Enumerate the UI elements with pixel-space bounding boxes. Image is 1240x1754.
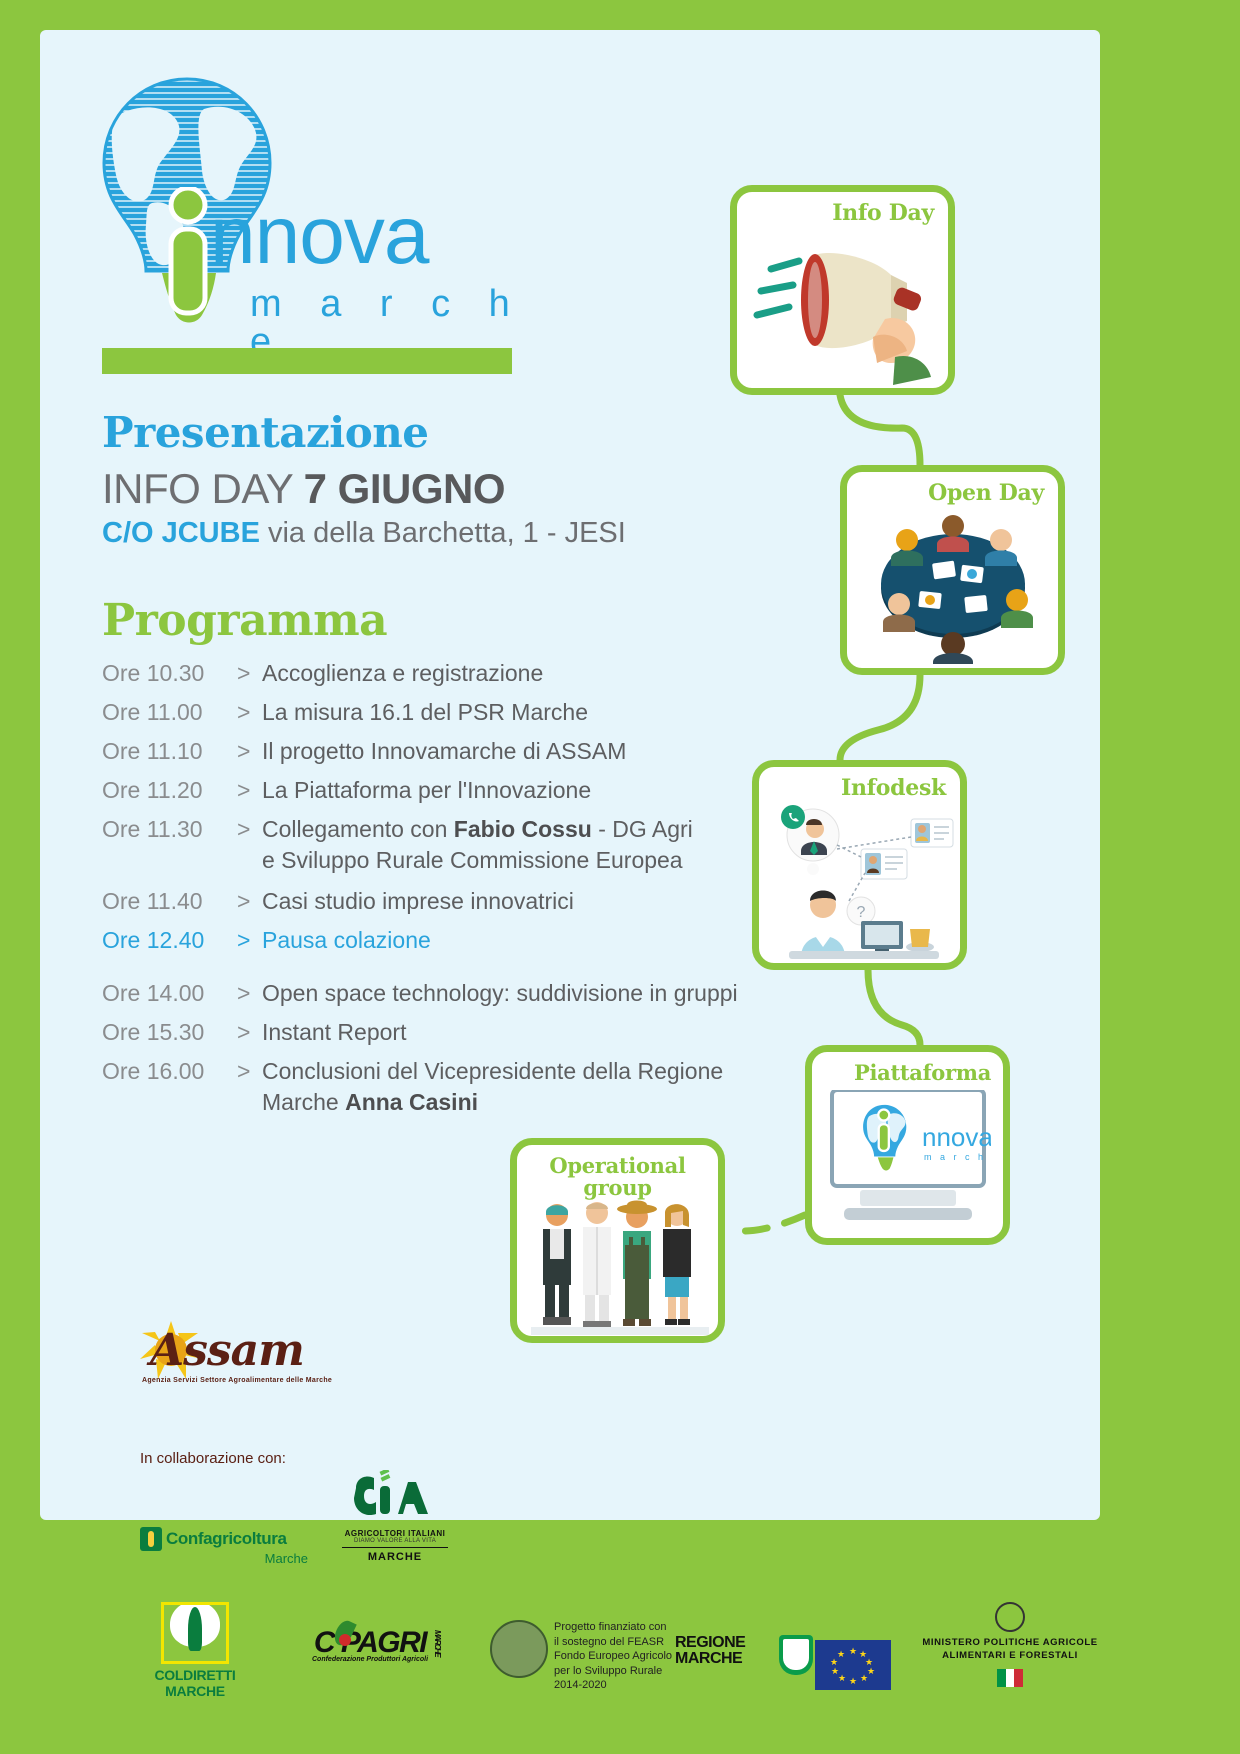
logo-regione-marche: REGIONE MARCHE: [675, 1635, 805, 1667]
card-infodesk[interactable]: Infodesk: [752, 760, 967, 970]
copagri-dot-icon: [339, 1634, 351, 1646]
program-row: Ore 11.00 > La misura 16.1 del PSR March…: [102, 701, 742, 724]
program-text-continuation: Marche Anna Casini: [262, 1089, 742, 1116]
regione-woodpecker-icon: [789, 1643, 805, 1665]
program-text: Il progetto Innovamarche di ASSAM: [262, 740, 626, 763]
program-text: Collegamento con Fabio Cossu - DG Agri: [262, 818, 693, 841]
eu-flag: ★ ★ ★ ★ ★ ★ ★ ★ ★ ★: [815, 1640, 891, 1690]
program-time: Ore 11.40: [102, 890, 237, 913]
card-title-infodesk: Infodesk: [759, 775, 960, 801]
program-text: Instant Report: [262, 1021, 406, 1044]
svg-text:nnova: nnova: [922, 1122, 991, 1152]
program-arrow: >: [237, 779, 262, 802]
program-time: Ore 11.30: [102, 818, 237, 841]
monitor-platform-icon: nnova m a r c h e: [826, 1090, 991, 1230]
infodesk-support-icon: ?: [765, 801, 955, 961]
card-piattaforma[interactable]: Piattaforma nnova m a r c h e: [805, 1045, 1010, 1245]
page-title: INFO DAY 7 GIUGNO: [102, 465, 505, 513]
coldiretti-tree-icon: [188, 1607, 202, 1651]
program-text: La Piattaforma per l'Innovazione: [262, 779, 591, 802]
program-time: Ore 11.10: [102, 740, 237, 763]
psr-seal-icon: [490, 1620, 548, 1678]
copagri-region: MARCHE: [433, 1630, 442, 1656]
card-title-operational-group-line1: Operational: [517, 1155, 718, 1177]
feasr-text: Progetto finanziato con il sostegno del …: [554, 1620, 690, 1693]
program-arrow: >: [237, 818, 262, 841]
program-row: Ore 11.20 > La Piattaforma per l'Innovaz…: [102, 779, 742, 802]
cia-region: MARCHE: [330, 1551, 460, 1563]
confagricoltura-region: Marche: [140, 1551, 308, 1566]
ministero-line1: MINISTERO POLITICHE AGRICOLE: [920, 1636, 1100, 1649]
program-row: Ore 11.30 > Collegamento con Fabio Cossu…: [102, 818, 742, 841]
coldiretti-shield-icon: [161, 1602, 229, 1664]
program-list: Ore 10.30 > Accoglienza e registrazione …: [102, 662, 742, 1132]
feasr-funding-block: Progetto finanziato con il sostegno del …: [490, 1620, 690, 1693]
program-time: Ore 16.00: [102, 1060, 237, 1083]
card-operational-group[interactable]: Operational group: [510, 1138, 725, 1343]
confagricoltura-mark-icon: [140, 1527, 162, 1551]
programma-heading: Programma: [102, 595, 387, 646]
italy-flag-icon: [997, 1669, 1023, 1687]
eu-flag-icon: ★ ★ ★ ★ ★ ★ ★ ★ ★ ★: [815, 1640, 891, 1690]
card-open-day[interactable]: Open Day: [840, 465, 1065, 675]
cia-line2: DIAMO VALORE ALLA VITA: [330, 1538, 460, 1544]
program-text: Pausa colazione: [262, 929, 431, 952]
program-time: Ore 15.30: [102, 1021, 237, 1044]
program-text: La misura 16.1 del PSR Marche: [262, 701, 588, 724]
logo-confagricoltura: Confagricoltura Marche: [140, 1527, 310, 1566]
card-title-operational-group-line2: group: [517, 1177, 718, 1199]
program-row: Ore 11.10 > Il progetto Innovamarche di …: [102, 740, 742, 763]
regione-shield-icon: [779, 1635, 813, 1675]
cia-mark-icon: [350, 1470, 440, 1522]
green-divider-bar: [102, 348, 512, 374]
program-row: Ore 16.00 > Conclusioni del Vicepresiden…: [102, 1060, 742, 1083]
page-eyebrow: Presentazione: [102, 408, 429, 457]
program-row: Ore 11.40 > Casi studio imprese innovatr…: [102, 890, 742, 913]
logo-cia: AGRICOLTORI ITALIANI DIAMO VALORE ALLA V…: [330, 1470, 460, 1563]
program-row: Ore 15.30 > Instant Report: [102, 1021, 742, 1044]
program-row: Ore 14.00 > Open space technology: suddi…: [102, 982, 742, 1005]
copagri-wordmark: C PAGRI MARCHE: [314, 1626, 426, 1660]
program-arrow: >: [237, 1021, 262, 1044]
collaboration-label: In collaborazione con:: [140, 1450, 286, 1467]
card-title-open-day: Open Day: [847, 480, 1058, 506]
innova-marche-logo: nnova m a r c h e: [100, 75, 560, 345]
feasr-line: Progetto finanziato con: [554, 1620, 690, 1635]
feasr-line: Fondo Europeo Agricolo: [554, 1649, 690, 1664]
program-time: Ore 14.00: [102, 982, 237, 1005]
program-arrow: >: [237, 1060, 262, 1083]
program-arrow: >: [237, 740, 262, 763]
card-title-info-day: Info Day: [737, 200, 948, 226]
card-info-day[interactable]: Info Day: [730, 185, 955, 395]
program-text: Casi studio imprese innovatrici: [262, 890, 574, 913]
card-title-piattaforma: Piattaforma: [812, 1060, 1003, 1085]
program-time: Ore 12.40: [102, 929, 237, 952]
ministero-line2: ALIMENTARI E FORESTALI: [920, 1649, 1100, 1662]
confagricoltura-name: Confagricoltura: [166, 1529, 287, 1549]
assam-logo: Assam Agenzia Servizi Settore Agroalimen…: [138, 1325, 318, 1395]
svg-text:m a r c h e: m a r c h e: [924, 1152, 991, 1162]
cia-divider: [342, 1547, 448, 1548]
program-time: Ore 11.00: [102, 701, 237, 724]
logo-copagri: C PAGRI MARCHE Confederazione Produttori…: [290, 1626, 450, 1663]
program-arrow: >: [237, 982, 262, 1005]
feasr-line: il sostegno del FEASR: [554, 1635, 690, 1650]
program-text: Open space technology: suddivisione in g…: [262, 982, 738, 1005]
program-text: Accoglienza e registrazione: [262, 662, 543, 685]
program-arrow: >: [237, 929, 262, 952]
program-text: Conclusioni del Vicepresidente della Reg…: [262, 1060, 723, 1083]
program-time: Ore 10.30: [102, 662, 237, 685]
program-row: Ore 10.30 > Accoglienza e registrazione: [102, 662, 742, 685]
program-time: Ore 11.20: [102, 779, 237, 802]
poster-canvas: nnova m a r c h e Presentazione INFO DAY…: [40, 30, 1100, 1520]
program-arrow: >: [237, 662, 262, 685]
program-arrow: >: [237, 701, 262, 724]
program-arrow: >: [237, 890, 262, 913]
logo-letter-i-icon: [162, 187, 216, 317]
logo-coldiretti: COLDIRETTI MARCHE: [140, 1602, 250, 1699]
feasr-line: 2014-2020: [554, 1678, 690, 1693]
people-group-icon: [531, 1199, 709, 1339]
program-row-break: Ore 12.40 > Pausa colazione: [102, 929, 742, 952]
megaphone-icon: [745, 227, 945, 387]
cia-line1: AGRICOLTORI ITALIANI: [330, 1529, 460, 1538]
coldiretti-line1: COLDIRETTI: [140, 1667, 250, 1683]
feasr-line: per lo Sviluppo Rurale: [554, 1664, 690, 1679]
meeting-table-icon: [857, 504, 1049, 664]
assam-wordmark: Assam: [150, 1325, 304, 1376]
venue-line: C/O JCUBE via della Barchetta, 1 - JESI: [102, 517, 626, 550]
logo-ministero: MINISTERO POLITICHE AGRICOLE ALIMENTARI …: [920, 1602, 1100, 1687]
coldiretti-line2: MARCHE: [140, 1683, 250, 1699]
svg-text:?: ?: [857, 904, 866, 921]
republic-emblem-icon: [995, 1602, 1025, 1632]
program-text-continuation: e Sviluppo Rurale Commissione Europea: [262, 847, 742, 874]
logo-wordmark: nnova: [210, 195, 428, 277]
assam-tagline: Agenzia Servizi Settore Agroalimentare d…: [142, 1377, 332, 1384]
